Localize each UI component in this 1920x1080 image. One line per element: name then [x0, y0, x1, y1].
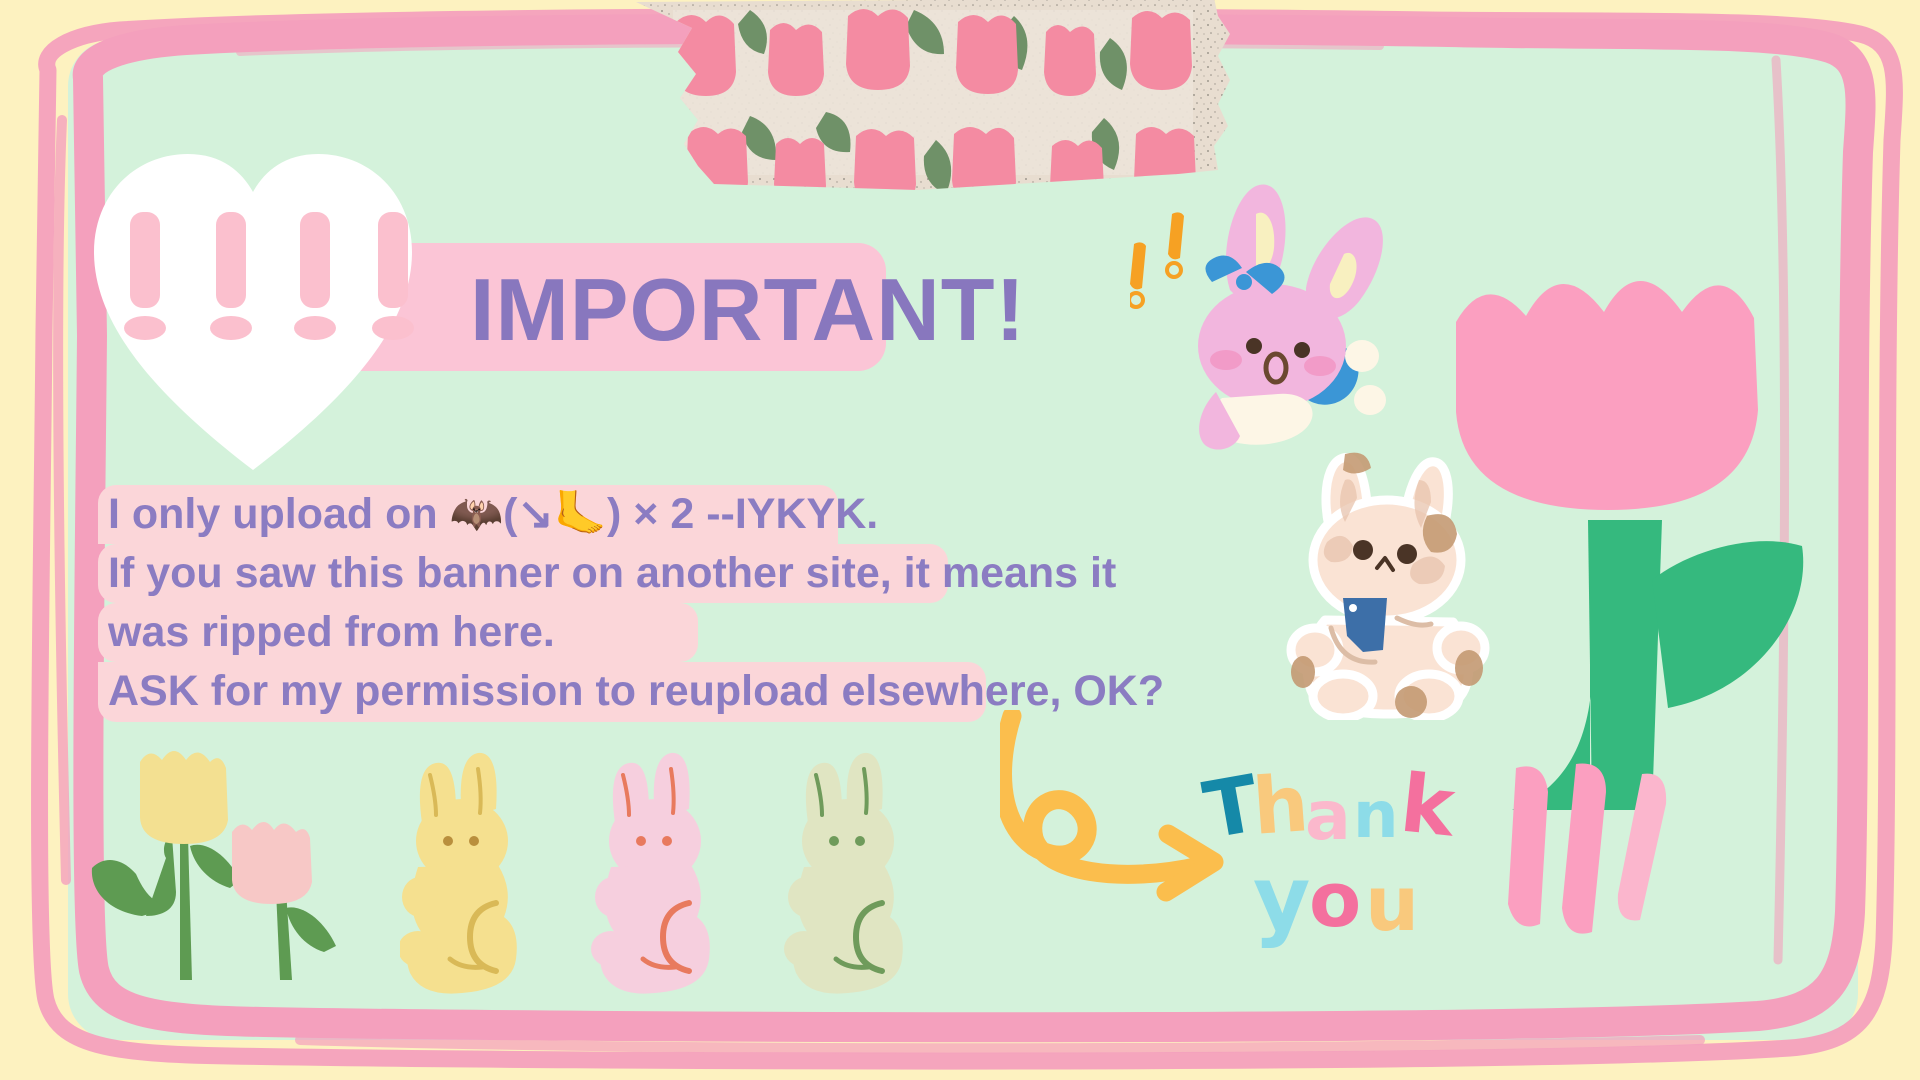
ty-letter-o: o — [1309, 855, 1361, 944]
ty-letter-n: n — [1353, 779, 1399, 853]
small-tulips-illustration — [80, 740, 410, 990]
body-text-block: I only upload on 🦇(↘🦶) × 2 --IYKYK. If y… — [98, 485, 1182, 721]
ty-letter-y: y — [1253, 847, 1310, 950]
body-line: was ripped from here. — [98, 603, 1182, 662]
ty-letter-k: k — [1396, 756, 1459, 854]
yellow-peep-bunny — [400, 753, 517, 994]
ty-letter-u: u — [1365, 859, 1419, 948]
page-title: IMPORTANT! — [470, 258, 1026, 362]
ty-letter-a: a — [1305, 777, 1351, 856]
sitting-bunny-sticker — [1285, 450, 1515, 720]
heart-with-exclamations-icon — [88, 140, 418, 480]
peep-bunnies-illustration — [400, 745, 960, 995]
body-line: If you saw this banner on another site, … — [98, 544, 1182, 603]
flying-bunny-sticker — [1130, 160, 1400, 450]
pink-peep-bunny — [591, 753, 710, 994]
thank-you-lettering: T h a n k y o u — [1205, 755, 1505, 965]
pink-petal-tufts — [1490, 760, 1720, 1000]
exclamation-accent-icon — [1130, 212, 1184, 307]
body-line: ASK for my permission to reupload elsewh… — [98, 662, 1182, 721]
banner-root: IMPORTANT! I only upload on 🦇(↘🦶) × 2 --… — [0, 0, 1920, 1080]
body-line: I only upload on 🦇(↘🦶) × 2 --IYKYK. — [98, 485, 1182, 544]
yellow-tulip — [92, 751, 240, 980]
pink-tulip — [232, 822, 336, 980]
green-peep-bunny — [784, 753, 903, 994]
ty-letter-h: h — [1250, 759, 1312, 853]
